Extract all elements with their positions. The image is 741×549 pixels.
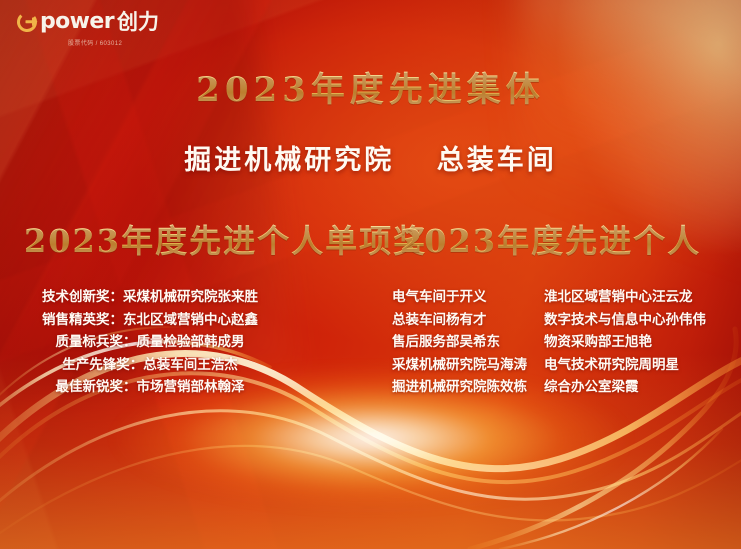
list-item: 综合办公室梁霞 — [544, 376, 639, 399]
special-award-list: 技术创新奖：采煤机械研究院张来胜 销售精英奖：东北区域营销中心赵鑫 质量标兵奖：… — [0, 286, 300, 399]
award-poster: power 创力 股票代码 / 603012 2023年度先进集体 掘进机械研究… — [0, 0, 741, 549]
logo-wordmark-cn: 创力 — [117, 12, 159, 33]
logo-row: power 创力 — [16, 11, 159, 33]
list-item: 生产先锋奖：总装车间王浩杰 — [0, 354, 300, 377]
list-item: 售后服务部吴希东 — [392, 331, 544, 354]
list-item: 淮北区域营销中心汪云龙 — [544, 286, 693, 309]
collective-winners: 掘进机械研究院 总装车间 — [0, 138, 741, 177]
stock-code-label: 股票代码 / 603012 — [68, 38, 122, 47]
table-row: 掘进机械研究院陈效栋 综合办公室梁霞 — [392, 376, 712, 399]
list-item: 物资采购部王旭艳 — [544, 331, 652, 354]
logo-wordmark: power — [40, 11, 114, 33]
list-item: 质量标兵奖：质量检验部韩成男 — [0, 331, 300, 354]
list-item: 电气技术研究院周明星 — [544, 354, 679, 377]
list-item: 总装车间杨有才 — [392, 309, 544, 332]
page-title: 2023年度先进集体 — [0, 62, 741, 111]
company-logo[interactable]: power 创力 股票代码 / 603012 — [16, 11, 159, 47]
list-item: 数字技术与信息中心孙伟伟 — [544, 309, 706, 332]
table-row: 售后服务部吴希东 物资采购部王旭艳 — [392, 331, 712, 354]
power-c-ring-icon — [16, 11, 38, 33]
list-item: 掘进机械研究院陈效栋 — [392, 376, 544, 399]
award-headings: 2023年度先进个人单项奖 2023年度先进个人 — [0, 216, 741, 262]
list-item: 电气车间于开义 — [392, 286, 544, 309]
heading-individual-advanced: 2023年度先进个人 — [400, 216, 701, 262]
table-row: 采煤机械研究院马海涛 电气技术研究院周明星 — [392, 354, 712, 377]
list-item: 技术创新奖：采煤机械研究院张来胜 — [0, 286, 300, 309]
list-item: 采煤机械研究院马海涛 — [392, 354, 544, 377]
list-item: 销售精英奖：东北区域营销中心赵鑫 — [0, 309, 300, 332]
list-item: 最佳新锐奖：市场营销部林翰泽 — [0, 376, 300, 399]
table-row: 总装车间杨有才 数字技术与信息中心孙伟伟 — [392, 309, 712, 332]
table-row: 电气车间于开义 淮北区域营销中心汪云龙 — [392, 286, 712, 309]
heading-individual-special: 2023年度先进个人单项奖 — [24, 216, 427, 262]
advanced-individual-list: 电气车间于开义 淮北区域营销中心汪云龙 总装车间杨有才 数字技术与信息中心孙伟伟… — [392, 286, 712, 399]
